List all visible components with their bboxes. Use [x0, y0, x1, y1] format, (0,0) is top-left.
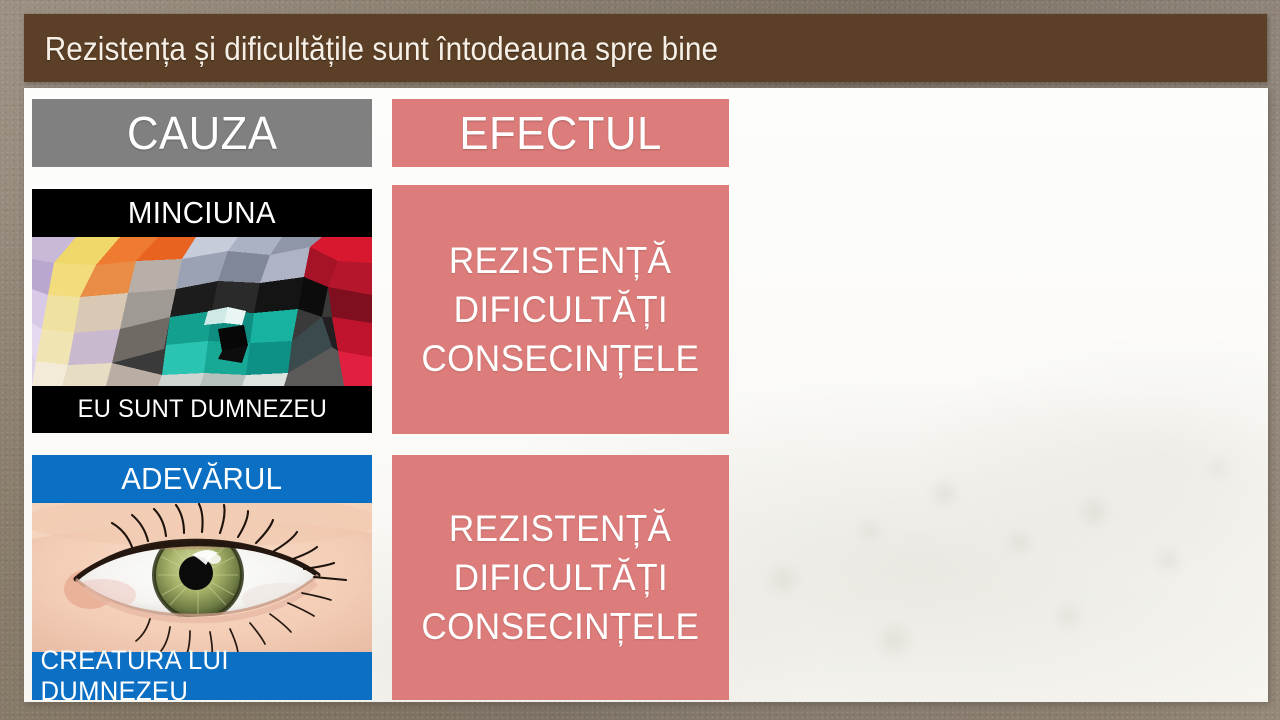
page-title: Rezistența și dificultățile sunt întodea…	[24, 32, 718, 65]
slide-clip-region: Rezistența și dificultățile sunt întodea…	[0, 0, 1280, 702]
effect-line-1: REZISTENȚĂ	[449, 236, 672, 285]
cause-card-truth: ADEVĂRUL CREATURA LUI DUMNEZEU	[32, 455, 372, 700]
column-header-efectul-label: EFECTUL	[459, 106, 661, 160]
cause-bottom-caption-lie: EU SUNT DUMNEZEU	[32, 386, 372, 433]
effect-line-2: DIFICULTĂȚI	[453, 553, 667, 602]
photo-eye-image	[32, 503, 372, 652]
effect-line-1: REZISTENȚĂ	[449, 504, 672, 553]
cause-bottom-caption-truth-text: CREATURA LUI DUMNEZEU	[41, 645, 364, 700]
effect-cell-row2: REZISTENȚĂ DIFICULTĂȚI CONSECINȚELE	[392, 455, 729, 700]
cause-top-caption-lie: MINCIUNA	[32, 189, 372, 237]
cause-top-caption-truth-text: ADEVĂRUL	[121, 461, 282, 497]
slide-canvas: Rezistența și dificultățile sunt întodea…	[0, 0, 1280, 720]
cause-top-caption-lie-text: MINCIUNA	[128, 195, 276, 231]
effect-cell-row1: REZISTENȚĂ DIFICULTĂȚI CONSECINȚELE	[392, 185, 729, 434]
polygonal-eye-svg	[32, 237, 372, 386]
column-header-cauza-label: CAUZA	[127, 106, 277, 160]
photo-eye-svg	[32, 503, 372, 652]
effect-line-3: CONSECINȚELE	[421, 334, 699, 383]
cause-top-caption-truth: ADEVĂRUL	[32, 455, 372, 503]
slide-title-bar: Rezistența și dificultățile sunt întodea…	[24, 14, 1267, 82]
effect-line-2: DIFICULTĂȚI	[453, 285, 667, 334]
cause-bottom-caption-lie-text: EU SUNT DUMNEZEU	[77, 395, 327, 424]
effect-line-3: CONSECINȚELE	[421, 602, 699, 651]
column-header-efectul: EFECTUL	[392, 99, 729, 167]
cause-bottom-caption-truth: CREATURA LUI DUMNEZEU	[32, 652, 372, 700]
column-header-cauza: CAUZA	[32, 99, 372, 167]
polygonal-eye-image	[32, 237, 372, 386]
cause-card-lie: MINCIUNA EU SUNT DUMNEZEU	[32, 189, 372, 433]
